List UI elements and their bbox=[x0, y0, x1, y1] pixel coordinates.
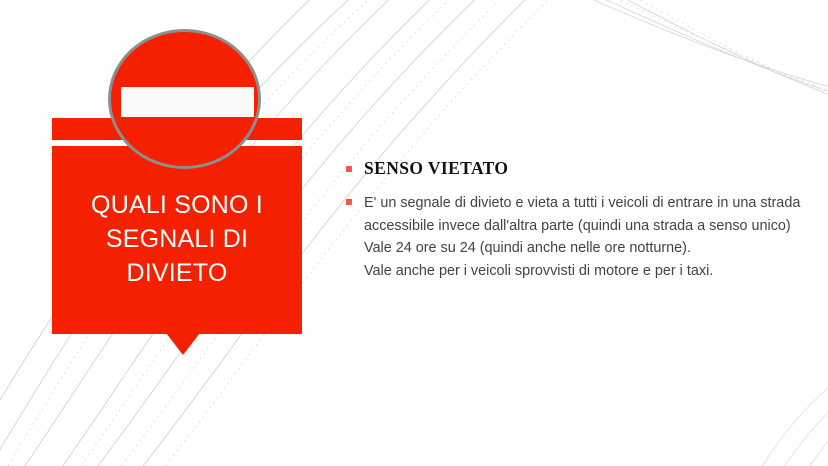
content-body: SENSO VIETATO E' un segnale di divieto e… bbox=[346, 158, 812, 282]
square-bullet-icon bbox=[346, 166, 352, 172]
no-entry-sign-icon bbox=[108, 29, 261, 169]
content-paragraph: E' un segnale di divieto e vieta a tutti… bbox=[364, 192, 812, 282]
slide: QUALI SONO I SEGNALI DI DIVIETO SENSO VI… bbox=[0, 0, 828, 466]
callout-tail-pointer bbox=[166, 333, 200, 355]
content-heading: SENSO VIETATO bbox=[364, 158, 508, 178]
list-item: SENSO VIETATO bbox=[346, 158, 812, 178]
page-title: QUALI SONO I SEGNALI DI DIVIETO bbox=[52, 188, 302, 290]
square-bullet-icon bbox=[346, 199, 352, 205]
list-item: E' un segnale di divieto e vieta a tutti… bbox=[346, 192, 812, 282]
no-entry-sign-bar bbox=[121, 87, 254, 117]
